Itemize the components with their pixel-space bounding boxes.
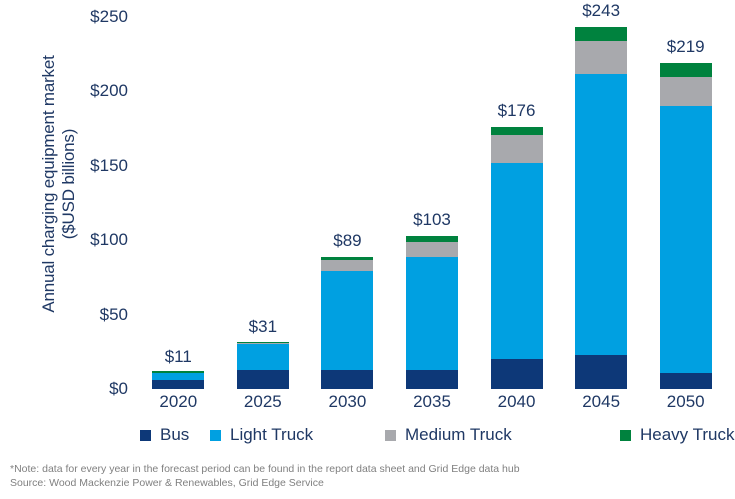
legend-label: Heavy Truck: [640, 425, 734, 445]
bar-segment-light-truck[interactable]: [406, 257, 458, 370]
bar-segment-bus[interactable]: [152, 380, 204, 389]
legend-swatch-icon: [385, 430, 396, 441]
legend-swatch-icon: [620, 430, 631, 441]
bar-segment-heavy-truck[interactable]: [660, 63, 712, 76]
bar-group-2045[interactable]: $243: [559, 17, 644, 389]
x-axis-tick-2045: 2045: [582, 392, 620, 412]
bar-segment-medium-truck[interactable]: [575, 41, 627, 74]
bar-segment-light-truck[interactable]: [575, 74, 627, 355]
bar-total-label-2040: $176: [498, 101, 536, 121]
bar-total-label-2025: $31: [249, 317, 277, 337]
bar-group-2040[interactable]: $176: [474, 17, 559, 389]
bar-total-label-2045: $243: [582, 1, 620, 21]
plot-area: $11$31$89$103$176$243$219: [136, 17, 728, 389]
bar-segment-light-truck[interactable]: [660, 106, 712, 372]
y-axis-tick-labels: $0$50$100$150$200$250: [62, 0, 128, 400]
bar-segment-bus[interactable]: [660, 373, 712, 389]
legend-label: Light Truck: [230, 425, 313, 445]
chart-legend: BusLight TruckMedium TruckHeavy Truck: [40, 425, 720, 451]
bar-segment-bus[interactable]: [406, 370, 458, 389]
y-axis-tick-50: $50: [100, 305, 128, 325]
bar-segment-heavy-truck[interactable]: [575, 27, 627, 40]
bar-segment-medium-truck[interactable]: [406, 242, 458, 257]
legend-item-heavy-truck[interactable]: Heavy Truck: [620, 425, 734, 445]
x-axis-tick-labels: 2020202520302035204020452050: [136, 392, 728, 418]
bar-segment-heavy-truck[interactable]: [321, 257, 373, 260]
legend-item-medium-truck[interactable]: Medium Truck: [385, 425, 512, 445]
bar-group-2030[interactable]: $89: [305, 17, 390, 389]
bar-segment-light-truck[interactable]: [152, 373, 204, 380]
bar-segment-heavy-truck[interactable]: [152, 371, 204, 373]
stacked-bar[interactable]: [152, 373, 204, 389]
bar-total-label-2050: $219: [667, 37, 705, 57]
x-axis-tick-2030: 2030: [329, 392, 367, 412]
bar-total-label-2030: $89: [333, 231, 361, 251]
stacked-bar[interactable]: [491, 127, 543, 389]
x-axis-tick-2050: 2050: [667, 392, 705, 412]
bar-segment-light-truck[interactable]: [491, 163, 543, 359]
y-axis-tick-100: $100: [90, 230, 128, 250]
x-axis-tick-2040: 2040: [498, 392, 536, 412]
legend-item-bus[interactable]: Bus: [140, 425, 189, 445]
legend-swatch-icon: [140, 430, 151, 441]
bar-segment-heavy-truck[interactable]: [491, 127, 543, 134]
y-axis-tick-0: $0: [109, 379, 128, 399]
legend-item-light-truck[interactable]: Light Truck: [210, 425, 313, 445]
bar-group-2020[interactable]: $11: [136, 17, 221, 389]
stacked-bar[interactable]: [406, 236, 458, 389]
footnote-source: Source: Wood Mackenzie Power & Renewable…: [10, 476, 730, 490]
y-axis-tick-250: $250: [90, 7, 128, 27]
chart-figure: Annual charging equipment market ($USD b…: [0, 0, 735, 499]
legend-swatch-icon: [210, 430, 221, 441]
bar-segment-bus[interactable]: [491, 359, 543, 389]
bar-group-2025[interactable]: $31: [221, 17, 306, 389]
x-axis-tick-2035: 2035: [413, 392, 451, 412]
y-axis-tick-200: $200: [90, 81, 128, 101]
bar-segment-bus[interactable]: [237, 370, 289, 389]
bar-segment-light-truck[interactable]: [237, 344, 289, 369]
stacked-bar[interactable]: [321, 257, 373, 389]
stacked-bar[interactable]: [660, 63, 712, 389]
bar-segment-bus[interactable]: [575, 355, 627, 389]
bar-segment-bus[interactable]: [321, 370, 373, 389]
legend-label: Bus: [160, 425, 189, 445]
bar-total-label-2020: $11: [165, 347, 192, 367]
bar-segment-heavy-truck[interactable]: [406, 236, 458, 242]
bar-segment-medium-truck[interactable]: [321, 260, 373, 272]
stacked-bar[interactable]: [575, 27, 627, 389]
bar-group-2050[interactable]: $219: [643, 17, 728, 389]
footnotes: *Note: data for every year in the foreca…: [10, 462, 730, 490]
bar-segment-medium-truck[interactable]: [491, 135, 543, 163]
bar-group-2035[interactable]: $103: [390, 17, 475, 389]
bar-total-label-2035: $103: [413, 210, 451, 230]
bar-segment-light-truck[interactable]: [321, 271, 373, 369]
x-axis-tick-2020: 2020: [159, 392, 197, 412]
legend-label: Medium Truck: [405, 425, 512, 445]
y-axis-tick-150: $150: [90, 156, 128, 176]
stacked-bar[interactable]: [237, 343, 289, 389]
footnote-note: *Note: data for every year in the foreca…: [10, 462, 730, 476]
bar-segment-heavy-truck[interactable]: [237, 342, 289, 344]
bar-segment-medium-truck[interactable]: [660, 77, 712, 107]
x-axis-tick-2025: 2025: [244, 392, 282, 412]
